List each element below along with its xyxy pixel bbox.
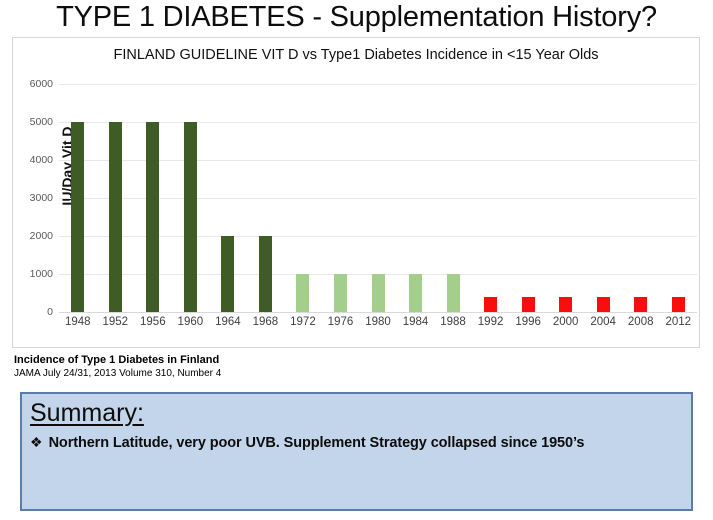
summary-bullet-item: ❖ Northern Latitude, very poor UVB. Supp… (30, 433, 683, 452)
x-axis-tick-label: 1964 (215, 316, 241, 328)
footnote-title: Incidence of Type 1 Diabetes in Finland (14, 353, 514, 367)
bar (334, 274, 347, 312)
x-axis-tick-label: 2004 (590, 316, 616, 328)
x-axis-tick-label: 2008 (628, 316, 654, 328)
x-axis-tick-label: 1972 (290, 316, 316, 328)
x-axis-tick-label: 1980 (365, 316, 391, 328)
x-axis-tick-label: 1976 (328, 316, 354, 328)
x-axis-tick-label: 2000 (553, 316, 579, 328)
chart-container: FINLAND GUIDELINE VIT D vs Type1 Diabete… (12, 37, 700, 348)
y-axis-tick-label: 5000 (9, 116, 53, 128)
y-axis-tick-label: 4000 (9, 154, 53, 166)
summary-heading: Summary: (30, 398, 144, 428)
bar (409, 274, 422, 312)
bar (221, 236, 234, 312)
bar (559, 297, 572, 312)
bar-series (59, 84, 697, 312)
x-axis-tick-label: 1956 (140, 316, 166, 328)
page-title: TYPE 1 DIABETES - Supplementation Histor… (0, 0, 713, 36)
y-axis-tick-label: 3000 (9, 192, 53, 204)
diamond-bullet-icon: ❖ (30, 433, 43, 451)
x-axis-tick-label: 2012 (665, 316, 691, 328)
y-axis-tick-label: 1000 (9, 268, 53, 280)
x-axis-tick-label: 1992 (478, 316, 504, 328)
y-axis-tick-label: 2000 (9, 230, 53, 242)
bar (484, 297, 497, 312)
x-axis-tick-label: 1996 (515, 316, 541, 328)
summary-box: Summary: ❖ Northern Latitude, very poor … (20, 392, 693, 511)
bar (184, 122, 197, 312)
bar (296, 274, 309, 312)
y-axis-tick-label: 0 (9, 306, 53, 318)
x-axis-tick-label: 1952 (102, 316, 128, 328)
x-axis-tick-label: 1988 (440, 316, 466, 328)
x-axis-tick-label: 1948 (65, 316, 91, 328)
bar (672, 297, 685, 312)
x-axis-ticks: 1948195219561960196419681972197619801984… (59, 314, 697, 336)
bar (146, 122, 159, 312)
bar (447, 274, 460, 312)
bar (597, 297, 610, 312)
gridline (59, 312, 697, 313)
plot-area: 0100020003000400050006000 (59, 84, 697, 312)
bar (109, 122, 122, 312)
summary-bullet-text: Northern Latitude, very poor UVB. Supple… (49, 434, 585, 452)
bar (522, 297, 535, 312)
chart-title: FINLAND GUIDELINE VIT D vs Type1 Diabete… (13, 47, 699, 63)
x-axis-tick-label: 1984 (403, 316, 429, 328)
bar (634, 297, 647, 312)
y-axis-tick-label: 6000 (9, 78, 53, 90)
footnote: Incidence of Type 1 Diabetes in Finland … (14, 353, 514, 381)
x-axis-tick-label: 1960 (178, 316, 204, 328)
x-axis-tick-label: 1968 (253, 316, 279, 328)
bar (259, 236, 272, 312)
footnote-citation: JAMA July 24/31, 2013 Volume 310, Number… (14, 367, 514, 381)
bar (372, 274, 385, 312)
bar (71, 122, 84, 312)
